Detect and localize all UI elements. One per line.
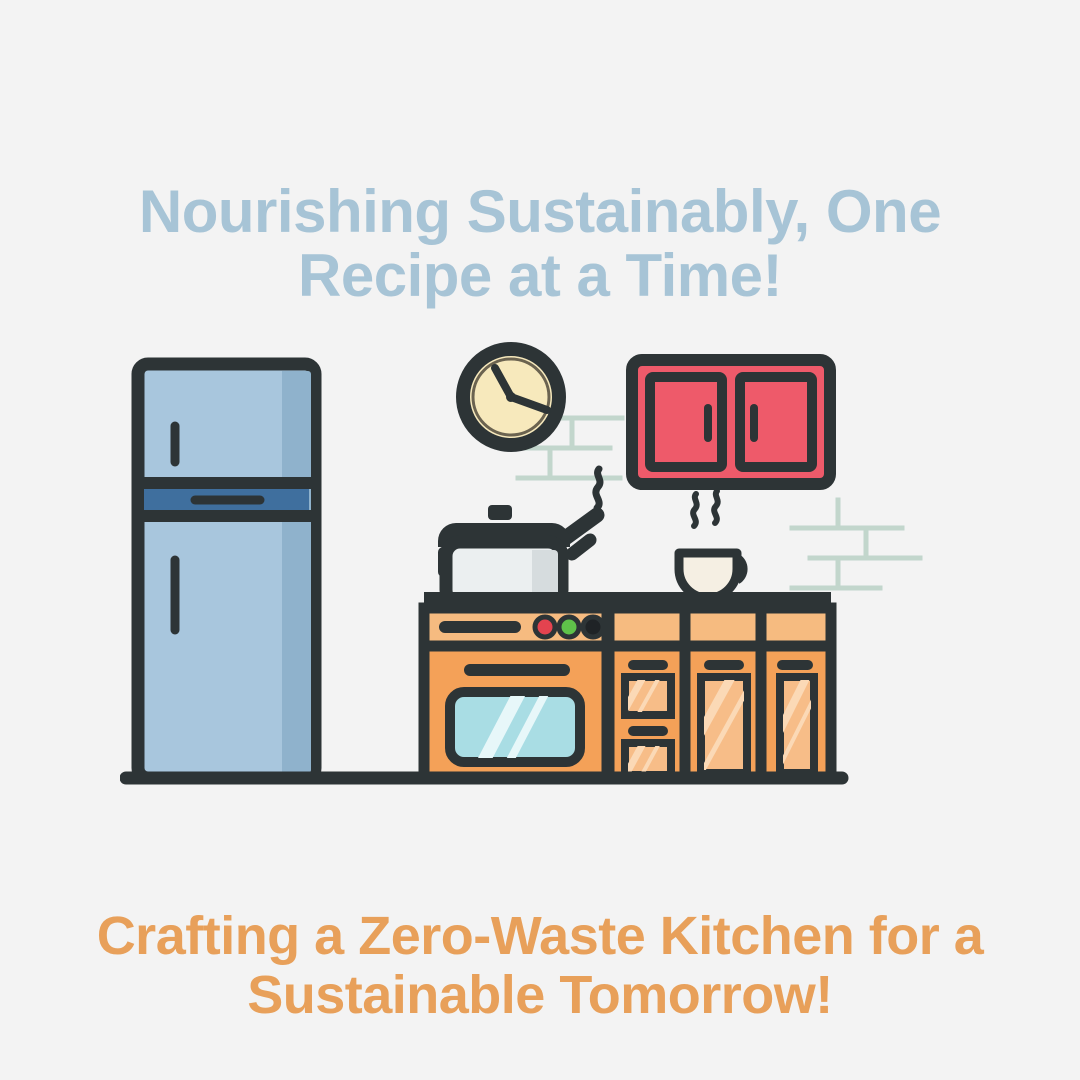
- wall-clock-icon: [463, 349, 559, 445]
- kitchen-illustration: [120, 320, 960, 830]
- red-wall-cabinet-icon: [632, 360, 830, 484]
- base-cabinets-icon: [609, 608, 831, 782]
- page-subtitle: Crafting a Zero-Waste Kitchen for a Sust…: [0, 907, 1080, 1025]
- coffee-cup-icon: [665, 491, 753, 599]
- cooking-pot-icon: [438, 469, 600, 604]
- page-title: Nourishing Sustainably, One Recipe at a …: [0, 180, 1080, 308]
- poster-canvas: Nourishing Sustainably, One Recipe at a …: [0, 0, 1080, 1080]
- stove-oven-icon: [424, 608, 607, 778]
- refrigerator-icon: [138, 364, 315, 778]
